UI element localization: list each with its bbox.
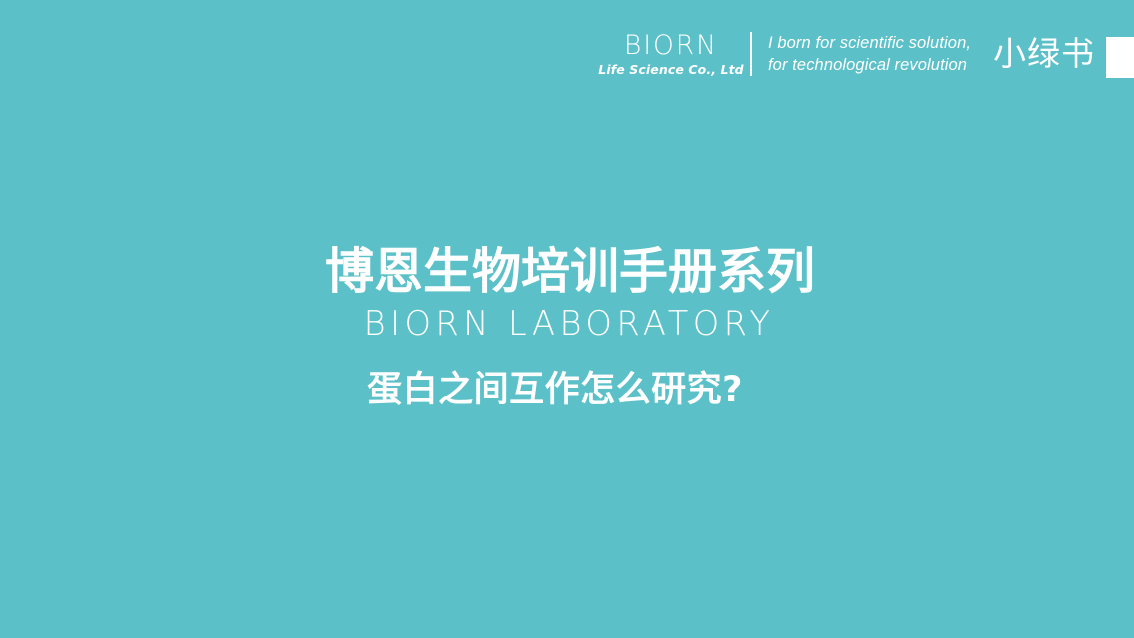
logo-wordmark: BIORN <box>624 32 718 59</box>
brand-row: BIORN Life Science Co., Ltd I born for s… <box>608 28 1095 80</box>
tagline-line-2: for technological revolution <box>768 54 971 76</box>
title-slide: BIORN Life Science Co., Ltd I born for s… <box>0 0 1134 638</box>
title-group: 博恩生物培训手册系列 BIORN LABORATORY 蛋白之间互作怎么研究? <box>0 244 1134 412</box>
page-title-english: BIORN LABORATORY <box>6 304 1129 344</box>
biorn-logo: BIORN Life Science Co., Ltd <box>608 32 734 77</box>
corner-white-block <box>1106 37 1134 78</box>
page-subtitle: 蛋白之间互作怎么研究? <box>0 368 1122 412</box>
company-tagline: I born for scientific solution, for tech… <box>768 32 971 76</box>
cn-brand-mark: 小绿书 <box>993 36 1095 72</box>
slide-header: BIORN Life Science Co., Ltd I born for s… <box>0 0 1134 110</box>
page-title: 博恩生物培训手册系列 <box>3 244 1134 300</box>
logo-subtext: Life Science Co., Ltd <box>598 63 743 77</box>
vertical-divider-icon <box>750 32 752 76</box>
tagline-line-1: I born for scientific solution, <box>768 32 971 54</box>
